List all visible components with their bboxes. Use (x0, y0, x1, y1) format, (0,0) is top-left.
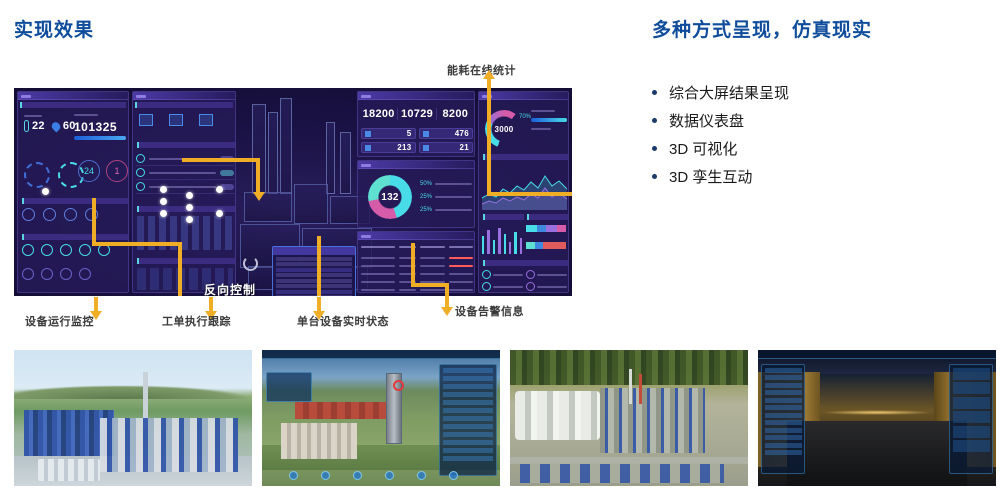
temperature-value: 22 (32, 120, 45, 132)
callout-arrow-down-icon (445, 293, 449, 307)
warehouse-roof (295, 402, 390, 420)
floor (787, 421, 968, 486)
list-item: 数据仪表盘 (652, 106, 972, 134)
status-icon (136, 154, 145, 163)
panel-subheader (20, 102, 126, 108)
stacked-bar (526, 225, 566, 232)
device-icon[interactable] (64, 208, 77, 221)
bar (520, 238, 522, 254)
device-icon[interactable] (60, 268, 72, 280)
popup-row (276, 273, 352, 277)
donut-center-value: 132 (381, 192, 399, 203)
device-row[interactable] (482, 282, 523, 291)
list-item-label: 数据仪表盘 (669, 110, 744, 131)
bullet-dot-icon (652, 118, 657, 123)
table-row[interactable] (361, 262, 473, 270)
bar (482, 236, 484, 254)
wireframe-block (244, 192, 292, 222)
road (510, 457, 748, 464)
route-line (182, 158, 260, 162)
bullet-dot-icon (652, 146, 657, 151)
storage-tanks (38, 459, 100, 481)
device-icon[interactable] (22, 268, 34, 280)
hotspot-marker-icon[interactable] (393, 380, 404, 391)
table-row[interactable] (136, 166, 234, 180)
hud-right-panel[interactable] (439, 364, 497, 476)
panel-header (358, 161, 474, 169)
route-node (186, 216, 193, 223)
page-title-right: 多种方式呈现，仿真现实 (652, 15, 872, 42)
row-text (149, 186, 216, 188)
callout-arrow-down-icon (94, 297, 98, 311)
list-item-label: 3D 孪生互动 (669, 166, 752, 187)
kpi-tile[interactable]: 5 (361, 128, 416, 139)
device-icon[interactable] (41, 268, 53, 280)
list-item: 综合大屏结果呈现 (652, 78, 972, 106)
toolbar-icon[interactable] (417, 471, 426, 480)
screenshot-gallery (14, 350, 996, 486)
table-header (361, 246, 473, 254)
count-alarm-badge: 1 (106, 160, 128, 182)
device-icon[interactable] (60, 244, 72, 256)
route-line (92, 242, 182, 246)
toolbar-icon[interactable] (449, 471, 458, 480)
list-item-label: 3D 可视化 (669, 138, 737, 159)
panel-subheader (483, 260, 568, 266)
status-icon (136, 182, 145, 191)
popup-table-header (276, 290, 352, 294)
table-row[interactable] (361, 286, 473, 294)
report-icon[interactable] (139, 114, 153, 126)
table-row[interactable] (361, 270, 473, 278)
list-item-label: 综合大屏结果呈现 (669, 82, 789, 103)
gauge-ring (24, 162, 50, 188)
gallery-image-refinery-aerial[interactable] (510, 350, 748, 486)
route-arrow-icon (253, 192, 265, 201)
count-alarm-value: 1 (114, 166, 119, 176)
panel-subheader (22, 198, 128, 204)
panel-subheader (137, 258, 235, 264)
kpi-icon (423, 131, 429, 137)
metric-caption (24, 115, 42, 117)
structure-cluster (100, 418, 238, 472)
kpi-value: 21 (460, 143, 470, 152)
count-online-value: 24 (84, 166, 94, 176)
row-badge (220, 170, 234, 176)
panel-subheader (137, 142, 235, 148)
pressure-value: 101325 (74, 120, 126, 134)
callout-label-device-monitor: 设备运行监控 (25, 313, 94, 329)
toolbar-icon[interactable] (321, 471, 330, 480)
stat-value: 10729 (398, 108, 435, 120)
legend-label (435, 209, 472, 211)
gallery-image-plant-overview[interactable] (14, 350, 252, 486)
feature-list: 综合大屏结果呈现 数据仪表盘 3D 可视化 3D 孪生互动 (652, 78, 972, 190)
popup-header (273, 247, 355, 255)
route-line (178, 242, 182, 296)
hud-right-panel[interactable] (949, 364, 993, 474)
progress-bar (531, 118, 567, 122)
gauge-value: 3000 (495, 125, 514, 134)
device-icon (482, 282, 491, 291)
device-detail-popup[interactable] (272, 246, 356, 296)
route-node (186, 204, 193, 211)
hud-top-bar[interactable] (262, 350, 500, 359)
kpi-icon (423, 145, 429, 151)
hud-top-bar[interactable] (758, 350, 996, 359)
device-icon[interactable] (22, 208, 35, 221)
stat-cell: 8200 (437, 108, 474, 120)
pressure-bar (74, 136, 126, 140)
kpi-icon (365, 145, 371, 151)
hud-left-panel[interactable] (761, 364, 805, 474)
popup-row (276, 262, 352, 266)
device-row[interactable] (482, 270, 523, 279)
popup-row (276, 279, 352, 283)
kpi-value: 5 (407, 129, 412, 138)
panel-header (18, 92, 128, 100)
bar (493, 240, 495, 254)
route-line (487, 104, 491, 196)
route-line (411, 243, 415, 287)
route-line (256, 158, 260, 194)
area-chart (482, 164, 567, 210)
humidity-icon (50, 120, 62, 132)
bar (509, 242, 511, 254)
stat-value: 8200 (437, 108, 474, 120)
callout-label-energy: 能耗在线统计 (447, 62, 516, 78)
popup-row (276, 295, 352, 296)
callout-label-single-device: 单台设备实时状态 (297, 313, 389, 329)
bullet-dot-icon (652, 90, 657, 95)
panel-subheader (22, 234, 128, 240)
panel-subheader (135, 102, 233, 108)
popup-row (276, 284, 352, 288)
toolbar-icon[interactable] (353, 471, 362, 480)
wireframe-block (294, 184, 328, 224)
kpi-tile[interactable]: 476 (419, 128, 474, 139)
count-online-badge: 24 (78, 160, 100, 182)
bar (514, 232, 516, 254)
toolbar-icon[interactable] (385, 471, 394, 480)
route-node (216, 210, 223, 217)
stat-value: 18200 (360, 108, 397, 120)
bar (498, 228, 500, 254)
panel-header (358, 232, 474, 240)
row-text (149, 172, 216, 174)
route-line (487, 192, 572, 196)
wireframe-tower (340, 132, 351, 194)
legend-label (435, 183, 472, 185)
slide-root: 实现效果 多种方式呈现，仿真现实 综合大屏结果呈现 数据仪表盘 3D 可视化 3… (0, 0, 1000, 498)
status-icon (136, 168, 145, 177)
table-row[interactable] (361, 254, 473, 262)
alarm-status (449, 257, 473, 259)
callout-label-workorder: 工单执行跟踪 (162, 313, 231, 329)
legend-item: 25% (420, 190, 472, 203)
legend-pct: 25% (420, 207, 432, 213)
stacked-bar (526, 242, 566, 249)
flare-stack (639, 374, 642, 404)
panel-summary-stats[interactable]: 18200 10729 8200 5 476 (357, 91, 475, 157)
gallery-image-interior-walkthrough[interactable] (758, 350, 996, 486)
route-node (160, 186, 167, 193)
list-item: 3D 可视化 (652, 134, 972, 162)
thermometer-icon (24, 120, 29, 132)
wireframe-tower (268, 112, 278, 194)
bullet-dot-icon (652, 174, 657, 179)
device-row[interactable] (526, 270, 567, 279)
device-row[interactable] (526, 282, 567, 291)
donut-center: 132 (368, 175, 412, 219)
chimney (629, 369, 632, 404)
panel-header (133, 92, 235, 100)
device-icon[interactable] (43, 208, 56, 221)
kpi-tile[interactable]: 213 (361, 142, 416, 153)
device-icon (526, 282, 535, 291)
storage-tank-farm (515, 391, 601, 440)
popup-row (276, 257, 352, 261)
list-item: 3D 孪生互动 (652, 162, 972, 190)
route-node (160, 210, 167, 217)
device-icon[interactable] (79, 244, 91, 256)
hud-bottom-toolbar[interactable] (281, 468, 481, 484)
legend-item: 50% (420, 177, 472, 190)
gallery-image-digital-twin[interactable] (262, 350, 500, 486)
report-icon[interactable] (169, 114, 183, 126)
stat-cell: 10729 (398, 108, 436, 120)
hud-left-panel[interactable] (266, 372, 312, 402)
bar (487, 230, 489, 254)
callout-arrow-down-icon (317, 297, 321, 311)
device-icon[interactable] (22, 244, 34, 256)
panel-quality-donut[interactable]: 132 50% 25% 25% (357, 160, 475, 228)
callout-label-alarm: 设备告警信息 (455, 303, 524, 319)
legend-pct: 50% (420, 181, 432, 187)
route-line (411, 283, 449, 287)
route-node (216, 186, 223, 193)
kpi-value: 476 (455, 129, 469, 138)
legend-pct: 25% (420, 194, 432, 200)
page-title-left: 实现效果 (14, 15, 94, 42)
alarm-status (449, 265, 473, 267)
process-units (600, 388, 705, 453)
stat-cell: 18200 (360, 108, 398, 120)
kpi-tile[interactable]: 21 (419, 142, 474, 153)
route-node (42, 188, 49, 195)
device-icon[interactable] (41, 244, 53, 256)
dashboard-screenshot: 22 60 101325 24 1 (14, 88, 572, 296)
kpi-icon (365, 131, 371, 137)
bar-chart (482, 224, 522, 254)
legend-item: 25% (420, 203, 472, 216)
device-icon[interactable] (79, 268, 91, 280)
panel-device-overview[interactable]: 22 60 101325 24 1 (17, 91, 129, 293)
light-glow (820, 410, 934, 415)
legend-label (435, 196, 472, 198)
gauge-pct: 70% (519, 114, 531, 120)
panel-subheader (483, 154, 568, 160)
hillside (14, 385, 252, 399)
device-icon (526, 270, 535, 279)
device-icon (482, 270, 491, 279)
callout-arrow-down-icon (209, 297, 213, 311)
factory-building (281, 423, 357, 458)
popup-table-header (276, 268, 352, 272)
kpi-value: 213 (397, 143, 411, 152)
panel-header (358, 92, 474, 100)
report-icon[interactable] (199, 114, 213, 126)
route-line (317, 236, 321, 296)
panel-header (479, 92, 568, 100)
panel-subheader (483, 214, 524, 220)
blue-roof-buildings (520, 464, 725, 483)
metric-caption (74, 114, 98, 116)
callout-label-reverse-control: 反向控制 (204, 281, 256, 296)
wireframe-tower (280, 98, 292, 194)
route-node (186, 192, 193, 199)
route-node (160, 198, 167, 205)
panel-subheader (527, 214, 568, 220)
route-line (92, 198, 96, 246)
bar (504, 234, 506, 254)
toolbar-icon[interactable] (289, 471, 298, 480)
refresh-icon[interactable] (243, 256, 258, 271)
